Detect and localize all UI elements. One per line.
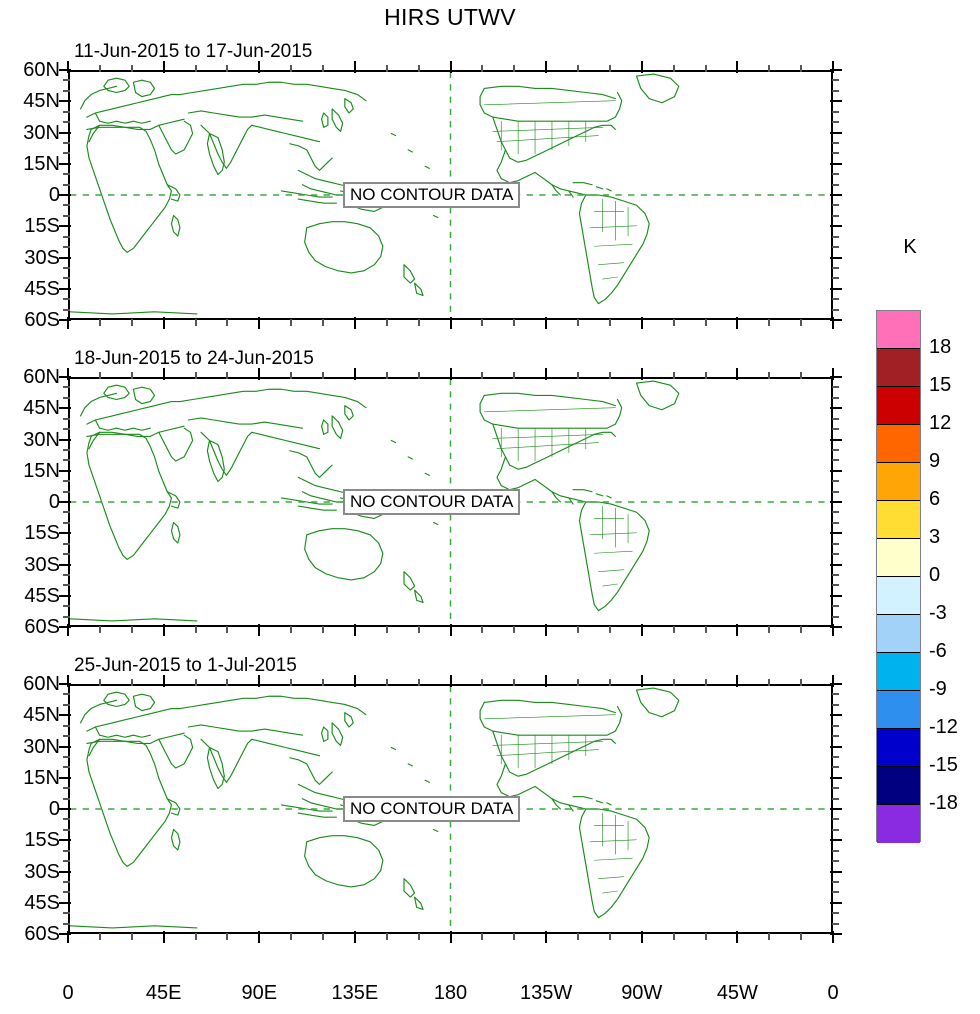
y-axis-tick-label: 45N xyxy=(2,91,60,111)
y-axis-minor-tick xyxy=(832,90,839,92)
x-axis-minor-tick xyxy=(800,933,802,940)
x-axis-minor-tick xyxy=(481,65,483,72)
y-axis-tick xyxy=(830,194,842,196)
x-axis-minor-tick xyxy=(800,65,802,72)
x-axis-tick xyxy=(163,61,165,73)
y-axis-minor-tick xyxy=(832,543,839,545)
x-axis-minor-tick xyxy=(577,65,579,72)
y-axis-tick xyxy=(830,746,842,748)
y-axis-minor-tick xyxy=(63,850,70,852)
y-axis-minor-tick xyxy=(832,616,839,618)
x-axis-tick xyxy=(641,675,643,687)
y-axis-minor-tick xyxy=(63,787,70,789)
y-axis-minor-tick xyxy=(832,693,839,695)
y-axis-tick-label: 30S xyxy=(2,862,60,882)
x-axis-tick xyxy=(736,368,738,380)
y-axis-tick-label: 15S xyxy=(2,830,60,850)
x-axis-tick xyxy=(258,675,260,687)
y-axis-minor-tick xyxy=(832,418,839,420)
colorbar-tick-label: 0 xyxy=(929,565,975,585)
colorbar-band xyxy=(877,349,920,387)
x-axis-minor-tick xyxy=(226,626,228,633)
colorbar-tick-label: 15 xyxy=(929,375,975,395)
y-axis-tick-label: 45S xyxy=(2,279,60,299)
x-axis-tick xyxy=(641,931,643,943)
map-panel-1[interactable]: NO CONTOUR DATA xyxy=(68,70,833,320)
y-axis-minor-tick xyxy=(63,277,70,279)
y-axis-minor-tick xyxy=(832,142,839,144)
y-axis-minor-tick xyxy=(832,386,839,388)
colorbar-unit-label: K xyxy=(880,236,940,259)
y-axis-minor-tick xyxy=(832,891,839,893)
colorbar-band xyxy=(877,387,920,425)
y-axis-minor-tick xyxy=(832,553,839,555)
colorbar-band xyxy=(877,691,920,729)
y-axis-minor-tick xyxy=(63,121,70,123)
y-axis-minor-tick xyxy=(63,818,70,820)
panel-title-3: 25-Jun-2015 to 1-Jul-2015 xyxy=(68,655,833,677)
y-axis-tick-label: 60N xyxy=(2,674,60,694)
x-axis-minor-tick xyxy=(768,372,770,379)
y-axis-tick xyxy=(59,808,71,810)
x-axis-tick xyxy=(736,61,738,73)
y-axis-minor-tick xyxy=(63,90,70,92)
y-axis-minor-tick xyxy=(63,522,70,524)
y-axis-tick-label: 30N xyxy=(2,737,60,757)
x-axis-minor-tick xyxy=(673,933,675,940)
x-axis-minor-tick xyxy=(418,933,420,940)
colorbar-tick-label: 12 xyxy=(929,413,975,433)
x-axis-tick xyxy=(258,624,260,636)
x-axis-minor-tick xyxy=(418,65,420,72)
y-axis-minor-tick xyxy=(832,704,839,706)
y-axis-tick-label: 30N xyxy=(2,123,60,143)
y-axis-minor-tick xyxy=(832,121,839,123)
y-axis-minor-tick xyxy=(832,184,839,186)
x-axis-minor-tick xyxy=(195,372,197,379)
page-title: HIRS UTWV xyxy=(0,4,900,31)
y-axis-tick xyxy=(59,902,71,904)
x-axis-minor-tick xyxy=(99,65,101,72)
y-axis-tick xyxy=(830,532,842,534)
y-axis-minor-tick xyxy=(63,704,70,706)
x-axis-minor-tick xyxy=(481,679,483,686)
y-axis-minor-tick xyxy=(63,584,70,586)
x-axis-minor-tick xyxy=(195,933,197,940)
y-axis-tick-label: 0 xyxy=(2,185,60,205)
x-axis-minor-tick xyxy=(609,679,611,686)
x-axis-tick xyxy=(641,368,643,380)
y-axis-tick xyxy=(59,564,71,566)
x-axis-minor-tick xyxy=(577,933,579,940)
y-axis-minor-tick xyxy=(832,860,839,862)
x-axis-minor-tick xyxy=(609,372,611,379)
y-axis-tick-label: 15N xyxy=(2,461,60,481)
x-axis-minor-tick xyxy=(705,65,707,72)
x-axis-minor-tick xyxy=(577,319,579,326)
x-axis-tick xyxy=(736,317,738,329)
y-axis-tick xyxy=(830,407,842,409)
x-axis-tick xyxy=(258,368,260,380)
y-axis-minor-tick xyxy=(63,184,70,186)
y-axis-tick xyxy=(830,100,842,102)
y-axis-minor-tick xyxy=(63,267,70,269)
x-axis-minor-tick xyxy=(800,372,802,379)
x-axis-minor-tick xyxy=(609,65,611,72)
y-axis-tick xyxy=(59,257,71,259)
y-axis-tick xyxy=(830,714,842,716)
x-axis-minor-tick xyxy=(418,679,420,686)
y-axis-tick xyxy=(830,225,842,227)
x-axis-minor-tick xyxy=(673,372,675,379)
no-contour-data-annotation-2: NO CONTOUR DATA xyxy=(343,489,520,515)
x-axis-minor-tick xyxy=(513,319,515,326)
y-axis-tick-label: 60N xyxy=(2,367,60,387)
x-axis-tick xyxy=(354,61,356,73)
x-axis-minor-tick xyxy=(481,933,483,940)
y-axis-minor-tick xyxy=(832,881,839,883)
colorbar-tick-label: -6 xyxy=(929,641,975,661)
y-axis-minor-tick xyxy=(63,418,70,420)
y-axis-minor-tick xyxy=(832,480,839,482)
y-axis-tick-label: 15N xyxy=(2,154,60,174)
y-axis-tick xyxy=(830,439,842,441)
y-axis-tick-label: 60S xyxy=(2,617,60,637)
x-axis-tick xyxy=(354,931,356,943)
x-axis-tick xyxy=(832,317,834,329)
x-axis-tick-label: 180 xyxy=(416,983,486,1003)
y-axis-minor-tick xyxy=(63,449,70,451)
y-axis-tick xyxy=(59,163,71,165)
y-axis-minor-tick xyxy=(832,111,839,113)
y-axis-tick xyxy=(59,683,71,685)
y-axis-minor-tick xyxy=(63,923,70,925)
colorbar-band xyxy=(877,729,920,767)
y-axis-minor-tick xyxy=(832,756,839,758)
x-axis-minor-tick xyxy=(322,626,324,633)
y-axis-tick-label: 15S xyxy=(2,523,60,543)
y-axis-tick xyxy=(59,407,71,409)
y-axis-minor-tick xyxy=(63,111,70,113)
y-axis-minor-tick xyxy=(63,215,70,217)
x-axis-minor-tick xyxy=(513,626,515,633)
x-axis-minor-tick xyxy=(131,679,133,686)
y-axis-tick xyxy=(59,69,71,71)
x-axis-minor-tick xyxy=(226,319,228,326)
x-axis-tick xyxy=(450,624,452,636)
x-axis-tick-label: 45W xyxy=(702,983,772,1003)
x-axis-tick-label: 135E xyxy=(320,983,390,1003)
y-axis-tick xyxy=(59,319,71,321)
x-axis-tick xyxy=(450,675,452,687)
x-axis-minor-tick xyxy=(290,679,292,686)
colorbar-tick-label: 6 xyxy=(929,489,975,509)
x-axis-tick-label: 45E xyxy=(129,983,199,1003)
x-axis-minor-tick xyxy=(418,372,420,379)
y-axis-tick xyxy=(830,257,842,259)
y-axis-tick xyxy=(59,100,71,102)
y-axis-tick xyxy=(830,902,842,904)
panel-title-2: 18-Jun-2015 to 24-Jun-2015 xyxy=(68,348,833,370)
x-axis-minor-tick xyxy=(800,679,802,686)
y-axis-minor-tick xyxy=(832,584,839,586)
x-axis-minor-tick xyxy=(609,626,611,633)
x-axis-minor-tick xyxy=(705,319,707,326)
x-axis-minor-tick xyxy=(673,319,675,326)
x-axis-tick xyxy=(832,624,834,636)
x-axis-minor-tick xyxy=(481,372,483,379)
x-axis-minor-tick xyxy=(800,319,802,326)
x-axis-minor-tick xyxy=(513,679,515,686)
x-axis-tick xyxy=(67,931,69,943)
x-axis-tick xyxy=(545,675,547,687)
y-axis-minor-tick xyxy=(832,246,839,248)
y-axis-minor-tick xyxy=(63,491,70,493)
y-axis-minor-tick xyxy=(832,152,839,154)
colorbar[interactable] xyxy=(876,310,921,842)
colorbar-band xyxy=(877,501,920,539)
y-axis-minor-tick xyxy=(63,829,70,831)
x-axis-minor-tick xyxy=(673,679,675,686)
x-axis-minor-tick xyxy=(226,933,228,940)
colorbar-band xyxy=(877,767,920,805)
y-axis-tick xyxy=(830,501,842,503)
x-axis-minor-tick xyxy=(322,319,324,326)
x-axis-tick xyxy=(545,931,547,943)
x-axis-tick xyxy=(545,624,547,636)
y-axis-minor-tick xyxy=(63,574,70,576)
x-axis-tick xyxy=(258,317,260,329)
colorbar-band xyxy=(877,311,920,349)
y-axis-tick xyxy=(59,933,71,935)
y-axis-minor-tick xyxy=(63,246,70,248)
y-axis-tick-label: 15N xyxy=(2,768,60,788)
y-axis-tick-label: 30S xyxy=(2,555,60,575)
y-axis-tick xyxy=(59,132,71,134)
x-axis-minor-tick xyxy=(226,372,228,379)
x-axis-tick xyxy=(67,368,69,380)
y-axis-tick-label: 0 xyxy=(2,492,60,512)
x-axis-minor-tick xyxy=(99,679,101,686)
colorbar-tick-label: -15 xyxy=(929,755,975,775)
x-axis-minor-tick xyxy=(322,372,324,379)
y-axis-minor-tick xyxy=(63,756,70,758)
x-axis-minor-tick xyxy=(131,65,133,72)
x-axis-minor-tick xyxy=(481,626,483,633)
y-axis-minor-tick xyxy=(63,236,70,238)
y-axis-tick xyxy=(830,871,842,873)
panel-title-1: 11-Jun-2015 to 17-Jun-2015 xyxy=(68,41,833,63)
x-axis-tick xyxy=(450,931,452,943)
y-axis-minor-tick xyxy=(63,543,70,545)
x-axis-minor-tick xyxy=(290,933,292,940)
x-axis-tick xyxy=(163,317,165,329)
y-axis-tick xyxy=(830,163,842,165)
x-axis-tick xyxy=(450,317,452,329)
y-axis-tick xyxy=(830,595,842,597)
y-axis-minor-tick xyxy=(63,881,70,883)
x-axis-minor-tick xyxy=(290,372,292,379)
y-axis-minor-tick xyxy=(832,605,839,607)
x-axis-minor-tick xyxy=(577,372,579,379)
x-axis-minor-tick xyxy=(418,626,420,633)
x-axis-tick xyxy=(736,624,738,636)
x-axis-tick xyxy=(832,675,834,687)
y-axis-minor-tick xyxy=(63,173,70,175)
colorbar-tick-label: 3 xyxy=(929,527,975,547)
y-axis-tick xyxy=(830,777,842,779)
y-axis-minor-tick xyxy=(63,693,70,695)
x-axis-minor-tick xyxy=(513,933,515,940)
x-axis-minor-tick xyxy=(800,626,802,633)
y-axis-tick xyxy=(59,470,71,472)
x-axis-minor-tick xyxy=(99,319,101,326)
colorbar-band xyxy=(877,577,920,615)
x-axis-tick-label: 0 xyxy=(33,983,103,1003)
x-axis-tick-label: 90W xyxy=(607,983,677,1003)
x-axis-minor-tick xyxy=(290,626,292,633)
x-axis-minor-tick xyxy=(99,626,101,633)
x-axis-tick xyxy=(545,368,547,380)
x-axis-minor-tick xyxy=(705,679,707,686)
y-axis-minor-tick xyxy=(63,79,70,81)
y-axis-minor-tick xyxy=(63,298,70,300)
y-axis-minor-tick xyxy=(832,522,839,524)
y-axis-minor-tick xyxy=(832,236,839,238)
x-axis-tick-label: 135W xyxy=(511,983,581,1003)
y-axis-minor-tick xyxy=(63,860,70,862)
x-axis-tick xyxy=(354,368,356,380)
x-axis-tick xyxy=(163,624,165,636)
y-axis-tick xyxy=(830,288,842,290)
y-axis-minor-tick xyxy=(832,912,839,914)
x-axis-tick-label: 0 xyxy=(798,983,868,1003)
x-axis-tick xyxy=(450,368,452,380)
y-axis-tick-label: 60S xyxy=(2,924,60,944)
y-axis-minor-tick xyxy=(63,386,70,388)
y-axis-minor-tick xyxy=(63,459,70,461)
y-axis-tick xyxy=(59,626,71,628)
y-axis-tick xyxy=(59,439,71,441)
x-axis-minor-tick xyxy=(768,626,770,633)
x-axis-minor-tick xyxy=(195,679,197,686)
x-axis-tick xyxy=(163,368,165,380)
x-axis-minor-tick xyxy=(577,679,579,686)
map-panel-2[interactable]: NO CONTOUR DATA xyxy=(68,377,833,627)
colorbar-tick-label: 18 xyxy=(929,337,975,357)
y-axis-tick xyxy=(59,532,71,534)
y-axis-minor-tick xyxy=(832,267,839,269)
x-axis-minor-tick xyxy=(768,679,770,686)
x-axis-minor-tick xyxy=(768,319,770,326)
x-axis-tick xyxy=(354,317,356,329)
y-axis-minor-tick xyxy=(832,277,839,279)
y-axis-minor-tick xyxy=(63,397,70,399)
y-axis-minor-tick xyxy=(63,735,70,737)
x-axis-tick xyxy=(545,317,547,329)
x-axis-tick xyxy=(736,931,738,943)
colorbar-tick-label: -12 xyxy=(929,717,975,737)
y-axis-minor-tick xyxy=(832,449,839,451)
y-axis-tick-label: 0 xyxy=(2,799,60,819)
x-axis-minor-tick xyxy=(99,933,101,940)
x-axis-minor-tick xyxy=(705,626,707,633)
y-axis-minor-tick xyxy=(832,818,839,820)
y-axis-minor-tick xyxy=(63,511,70,513)
y-axis-minor-tick xyxy=(832,829,839,831)
x-axis-tick xyxy=(67,61,69,73)
y-axis-minor-tick xyxy=(832,798,839,800)
map-panel-3[interactable]: NO CONTOUR DATA xyxy=(68,684,833,934)
y-axis-tick xyxy=(59,376,71,378)
y-axis-minor-tick xyxy=(63,428,70,430)
y-axis-minor-tick xyxy=(63,605,70,607)
y-axis-minor-tick xyxy=(832,735,839,737)
y-axis-tick-label: 60N xyxy=(2,60,60,80)
y-axis-minor-tick xyxy=(832,766,839,768)
y-axis-tick xyxy=(59,194,71,196)
x-axis-tick xyxy=(641,61,643,73)
x-axis-minor-tick xyxy=(226,679,228,686)
y-axis-minor-tick xyxy=(63,798,70,800)
x-axis-minor-tick xyxy=(768,65,770,72)
y-axis-minor-tick xyxy=(832,491,839,493)
x-axis-tick xyxy=(67,675,69,687)
y-axis-tick xyxy=(59,501,71,503)
colorbar-tick-label: -18 xyxy=(929,793,975,813)
y-axis-tick xyxy=(830,808,842,810)
y-axis-minor-tick xyxy=(832,298,839,300)
y-axis-tick-label: 60S xyxy=(2,310,60,330)
y-axis-tick xyxy=(59,714,71,716)
x-axis-minor-tick xyxy=(768,933,770,940)
y-axis-minor-tick xyxy=(63,480,70,482)
x-axis-minor-tick xyxy=(195,65,197,72)
no-contour-data-annotation-1: NO CONTOUR DATA xyxy=(343,182,520,208)
y-axis-minor-tick xyxy=(832,725,839,727)
x-axis-minor-tick xyxy=(195,319,197,326)
colorbar-band xyxy=(877,615,920,653)
y-axis-tick-label: 45S xyxy=(2,586,60,606)
x-axis-minor-tick xyxy=(673,626,675,633)
x-axis-minor-tick xyxy=(481,319,483,326)
y-axis-tick xyxy=(59,871,71,873)
y-axis-minor-tick xyxy=(63,616,70,618)
x-axis-tick xyxy=(545,61,547,73)
colorbar-tick-label: -3 xyxy=(929,603,975,623)
y-axis-minor-tick xyxy=(832,215,839,217)
x-axis-minor-tick xyxy=(609,933,611,940)
x-axis-tick xyxy=(67,317,69,329)
x-axis-tick xyxy=(163,675,165,687)
x-axis-tick xyxy=(354,675,356,687)
y-axis-tick xyxy=(830,839,842,841)
y-axis-tick-label: 45S xyxy=(2,893,60,913)
y-axis-tick-label: 30N xyxy=(2,430,60,450)
y-axis-minor-tick xyxy=(832,511,839,513)
y-axis-minor-tick xyxy=(63,553,70,555)
y-axis-minor-tick xyxy=(832,850,839,852)
y-axis-minor-tick xyxy=(63,912,70,914)
x-axis-minor-tick xyxy=(418,319,420,326)
x-axis-minor-tick xyxy=(705,372,707,379)
x-axis-tick xyxy=(163,931,165,943)
y-axis-tick xyxy=(59,225,71,227)
y-axis-tick-label: 45N xyxy=(2,398,60,418)
x-axis-minor-tick xyxy=(386,65,388,72)
x-axis-minor-tick xyxy=(386,319,388,326)
y-axis-tick xyxy=(59,839,71,841)
